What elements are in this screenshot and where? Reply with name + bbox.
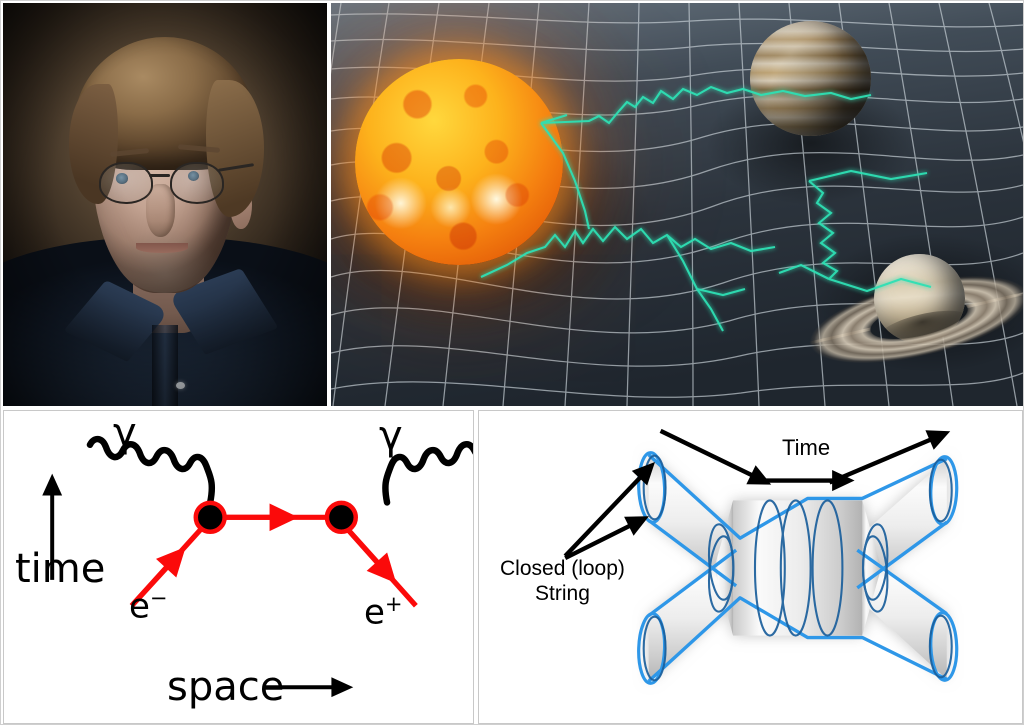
photon-line-left — [90, 439, 212, 502]
electron-charge: − — [150, 585, 168, 610]
closed-loop-string-label: Closed (loop) String — [500, 557, 625, 607]
electron-label: e− — [129, 587, 168, 623]
panel-spacetime-illustration — [331, 3, 1023, 406]
time-axis-label: time — [15, 549, 105, 589]
arrow-outgoing-top — [829, 435, 941, 483]
panel-portrait-photo — [3, 3, 327, 406]
arrow-pointer-upper — [565, 469, 648, 556]
arrow-pointer-lower — [565, 520, 641, 558]
electron-symbol: e — [129, 586, 150, 626]
photon-label-left: γ — [113, 413, 137, 453]
arrow-incoming-top — [661, 431, 763, 481]
positron-charge: + — [385, 591, 403, 616]
closed-loop-line-2: String — [500, 582, 625, 607]
graviton-wave-lines — [331, 3, 1023, 406]
space-axis-label: space — [167, 667, 284, 707]
closed-loop-line-1: Closed (loop) — [500, 557, 625, 582]
collage-page: γ γ time space e− e+ — [0, 0, 1024, 725]
worldsheet-surface — [649, 455, 947, 682]
portrait-vignette — [3, 3, 327, 406]
vertex-right — [327, 503, 356, 532]
photon-label-right: γ — [379, 416, 403, 456]
string-time-label: Time — [782, 437, 830, 459]
vertex-left — [196, 503, 225, 532]
positron-label: e+ — [364, 593, 403, 629]
positron-symbol: e — [364, 592, 385, 632]
